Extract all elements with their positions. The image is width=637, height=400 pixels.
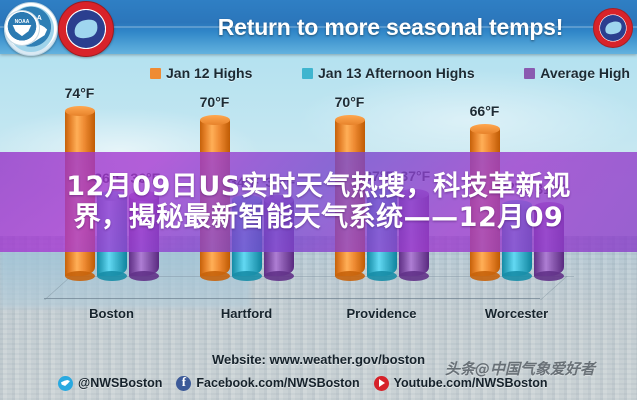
chart-legend: Jan 12 Highs Jan 13 Afternoon Highs Aver… [150,62,630,84]
twitter-icon [58,376,73,391]
facebook-url-label: Facebook.com/NWSBoston [196,376,359,390]
bar-top-cap [470,124,500,134]
bar-top-cap [65,106,95,116]
bar-bottom-cap [65,271,95,281]
social-link-twitter[interactable]: @NWSBoston [58,376,162,391]
overlay-line-1: 12月09日US实时天气热搜，科技革新视 [66,172,571,201]
bar-bottom-cap [264,271,294,281]
bar-top-cap [335,115,365,125]
page-title: Return to more seasonal temps! [150,8,631,46]
bar-bottom-cap [335,271,365,281]
youtube-icon [374,376,389,391]
city-label-worcester: Worcester [449,306,584,321]
twitter-handle-label: @NWSBoston [78,376,162,390]
city-label-boston: Boston [44,306,179,321]
bar-bottom-cap [534,271,564,281]
city-label-providence: Providence [314,306,449,321]
bar-top-cap [200,115,230,125]
bar-bottom-cap [399,271,429,281]
legend-label-jan13: Jan 13 Afternoon Highs [318,65,475,81]
footer-noaa-logo-icon: NOAA [4,10,40,46]
legend-label-average: Average High [540,65,630,81]
social-link-facebook[interactable]: Facebook.com/NWSBoston [176,376,359,391]
city-label-hartford: Hartford [179,306,314,321]
bar-bottom-cap [232,271,262,281]
legend-item-jan12: Jan 12 Highs [150,65,252,81]
bar-value-label: 74°F [65,85,95,101]
bar-value-label: 70°F [200,94,230,110]
footer-nws-logo-icon [593,8,633,48]
overlay-line-2: 界，揭秘最新智能天气系统——12月09 [74,203,564,232]
bar-value-label: 66°F [470,103,500,119]
legend-swatch-orange [150,68,161,79]
screenshot-root: Return to more seasonal temps! NOAA Jan … [0,0,637,400]
bar-bottom-cap [470,271,500,281]
legend-item-jan13: Jan 13 Afternoon Highs [302,65,475,81]
bar-bottom-cap [200,271,230,281]
watermark-label: 头条@中国气象爱好者 [445,358,595,379]
facebook-icon [176,376,191,391]
nws-logo-icon [58,1,114,57]
bar-bottom-cap [97,271,127,281]
legend-swatch-cyan [302,68,313,79]
bar-bottom-cap [502,271,532,281]
legend-item-average: Average High [524,65,630,81]
legend-swatch-purple [524,68,535,79]
bar-bottom-cap [367,271,397,281]
legend-label-jan12: Jan 12 Highs [166,65,252,81]
bar-bottom-cap [129,271,159,281]
bar-value-label: 70°F [335,94,365,110]
chinese-title-overlay: 12月09日US实时天气热搜，科技革新视 界，揭秘最新智能天气系统——12月09 [0,152,637,252]
